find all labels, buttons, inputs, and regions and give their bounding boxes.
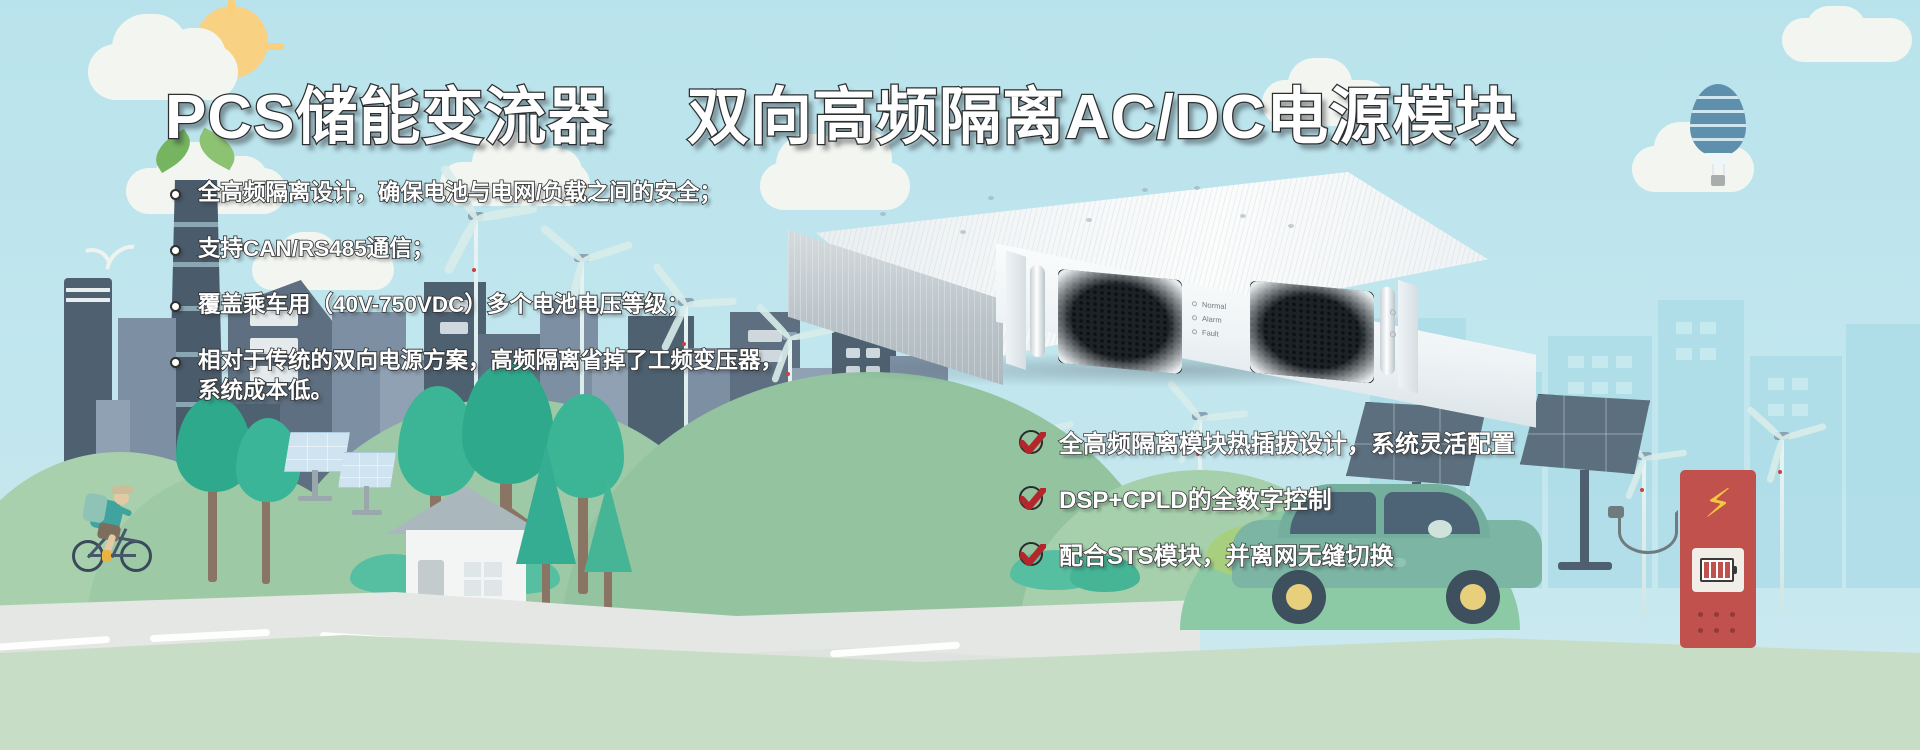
battery-icon xyxy=(1700,558,1734,582)
check-circle-icon xyxy=(1018,540,1046,568)
banner-canvas: ⚡ xyxy=(0,0,1920,750)
bullet-dot-icon xyxy=(170,245,181,256)
product-front-contents: Normal Alarm Fault xyxy=(1006,250,1530,422)
bullet-dot-icon xyxy=(170,357,181,368)
list-item: 配合STS模块，并离网无缝切换 xyxy=(1018,536,1515,571)
led-label-normal: Normal xyxy=(1202,300,1226,311)
led-normal-icon xyxy=(1192,301,1197,306)
list-item: DSP+CPLD的全数字控制 xyxy=(1018,480,1515,515)
product-handle-left xyxy=(1030,264,1045,357)
bullet-text: 相对于传统的双向电源方案，高频隔离省掉了工频变压器， 系统成本低。 xyxy=(198,346,783,406)
check-circle-icon xyxy=(1018,428,1046,456)
led-fault-icon xyxy=(1192,329,1197,334)
highlight-text: DSP+CPLD的全数字控制 xyxy=(1059,480,1332,515)
highlight-text: 配合STS模块，并离网无缝切换 xyxy=(1059,536,1394,571)
bullet-text: 支持CAN/RS485通信； xyxy=(198,234,434,264)
check-circle-icon xyxy=(1018,484,1046,512)
page-title: PCS储能变流器 双向高频隔离AC/DC电源模块 xyxy=(165,66,1518,156)
led-alarm-icon xyxy=(1192,315,1197,320)
led-label-fault: Fault xyxy=(1202,328,1219,339)
highlight-text: 全高频隔离模块热插拔设计，系统灵活配置 xyxy=(1059,424,1515,459)
bullet-dot-icon xyxy=(170,189,181,200)
list-item: 全高频隔离模块热插拔设计，系统灵活配置 xyxy=(1018,424,1515,459)
feature-bullet-list: 全高频隔离设计，确保电池与电网/负载之间的安全； 支持CAN/RS485通信； … xyxy=(170,178,783,432)
list-item: 全高频隔离设计，确保电池与电网/负载之间的安全； xyxy=(170,178,783,208)
list-item: 相对于传统的双向电源方案，高频隔离省掉了工频变压器， 系统成本低。 xyxy=(170,346,783,406)
product-fan-grille-right xyxy=(1250,280,1374,383)
product-fan-grille-left xyxy=(1058,269,1182,374)
led-label-alarm: Alarm xyxy=(1202,314,1222,325)
bullet-dot-icon xyxy=(170,301,181,312)
headline-part-2: 双向高频隔离AC/DC电源模块 xyxy=(687,83,1518,152)
headline-part-1: PCS储能变流器 xyxy=(165,83,610,152)
product-image: Normal Alarm Fault xyxy=(770,172,1560,402)
list-item: 支持CAN/RS485通信； xyxy=(170,234,783,264)
lightning-bolt-icon: ⚡ xyxy=(1704,484,1732,524)
product-led-indicators: Normal Alarm Fault xyxy=(1192,299,1226,344)
highlight-check-list: 全高频隔离模块热插拔设计，系统灵活配置 DSP+CPLD的全数字控制 配合STS… xyxy=(1018,424,1515,592)
bullet-text: 全高频隔离设计，确保电池与电网/负载之间的安全； xyxy=(198,178,722,208)
bullet-text: 覆盖乘车用（40V-750VDC）多个电池电压等级； xyxy=(198,290,689,320)
list-item: 覆盖乘车用（40V-750VDC）多个电池电压等级； xyxy=(170,290,783,320)
